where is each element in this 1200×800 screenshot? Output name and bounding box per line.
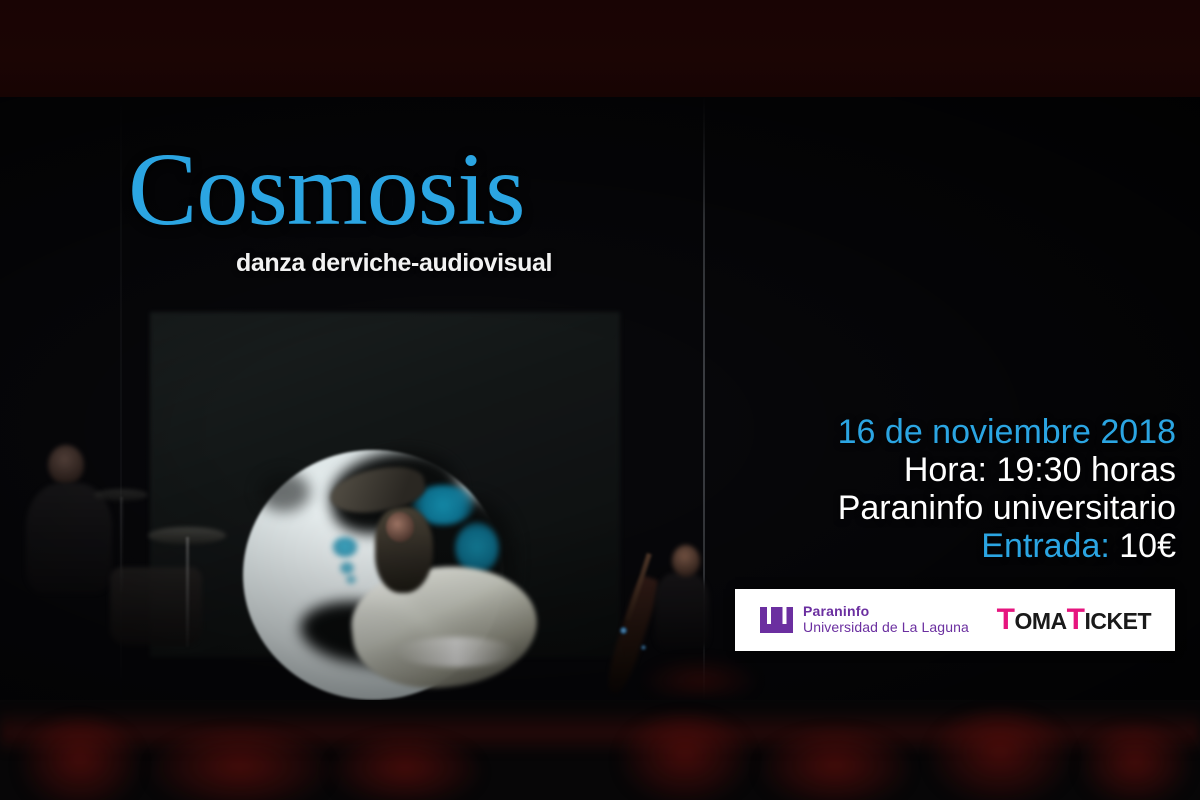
tomaticket-oma: OMA <box>1015 608 1067 635</box>
event-info-block: 16 de noviembre 2018 Hora: 19:30 horas P… <box>838 413 1176 565</box>
event-price: Entrada: 10€ <box>838 527 1176 565</box>
sponsor-bar: Paraninfo Universidad de La Laguna TOMAT… <box>735 589 1175 651</box>
teal-paint-splash-4 <box>340 562 354 574</box>
cellist-body <box>655 573 709 649</box>
cymbal-stand-a <box>120 497 123 592</box>
dancer-skirt-highlight <box>396 637 516 667</box>
letterbox-band-bottom <box>0 700 1200 800</box>
tomaticket-icket: ICKET <box>1085 608 1152 635</box>
tomaticket-t2: T <box>1067 603 1085 637</box>
drummer-body <box>26 483 112 593</box>
drummer-head <box>48 445 84 485</box>
ull-logo-text: Paraninfo Universidad de La Laguna <box>803 604 969 635</box>
paraninfo-ull-logo[interactable]: Paraninfo Universidad de La Laguna <box>759 604 969 635</box>
event-poster: Cosmosis danza derviche-audiovisual 16 d… <box>0 0 1200 800</box>
event-price-label: Entrada: <box>981 527 1110 565</box>
stage-light-blue-2 <box>641 645 646 650</box>
tomaticket-t1: T <box>997 603 1015 637</box>
ull-line-1: Paraninfo <box>803 604 969 620</box>
dervish-dancer-head <box>386 512 414 542</box>
teal-paint-splash-5 <box>346 575 356 584</box>
event-price-value: 10€ <box>1119 527 1176 565</box>
teal-paint-splash-3 <box>332 537 358 557</box>
projection-shadow-a <box>258 472 310 512</box>
ull-monogram-icon <box>759 605 793 635</box>
letterbox-band-top <box>0 0 1200 97</box>
event-time: Hora: 19:30 horas <box>838 451 1176 489</box>
cellist-head <box>672 545 700 577</box>
page-title: Cosmosis <box>128 138 525 242</box>
tomaticket-logo[interactable]: TOMATICKET <box>997 603 1151 637</box>
event-venue: Paraninfo universitario <box>838 489 1176 527</box>
ull-line-2: Universidad de La Laguna <box>803 620 969 636</box>
stage-light-blue-1 <box>620 627 627 634</box>
cymbal-stand-b <box>186 537 189 647</box>
stage-red-glow-upper <box>640 657 760 697</box>
event-date: 16 de noviembre 2018 <box>838 413 1176 451</box>
poster-subtitle: danza derviche-audiovisual <box>236 249 552 278</box>
